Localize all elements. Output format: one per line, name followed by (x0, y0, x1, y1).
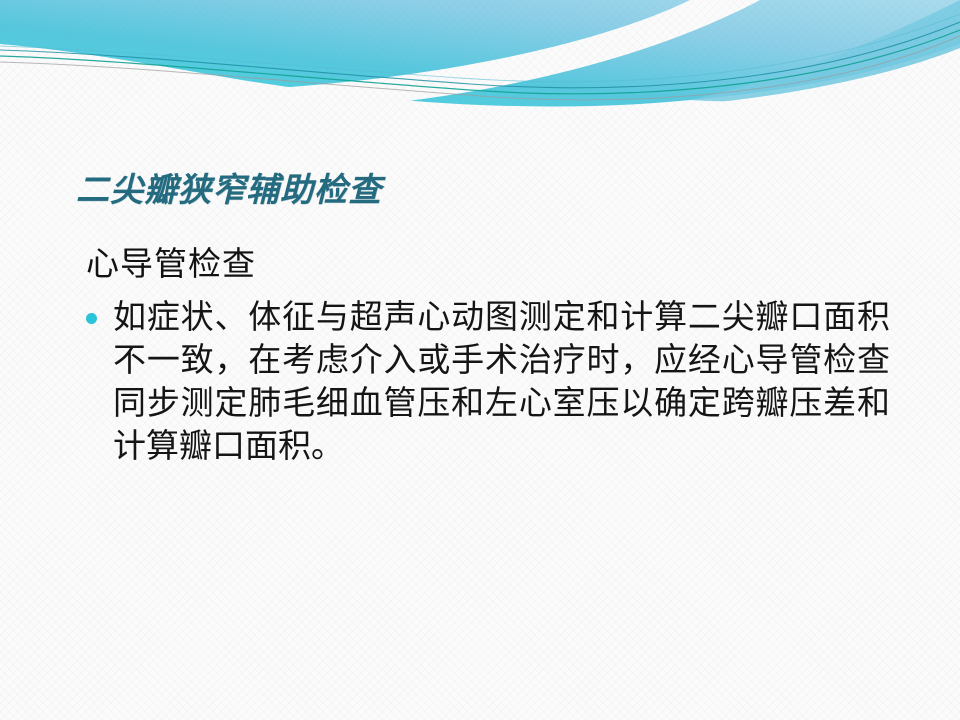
list-item: 如症状、体征与超声心动图测定和计算二尖瓣口面积不一致，在考虑介入或手术治疗时，应… (78, 297, 890, 469)
slide-body: 心导管检查 如症状、体征与超声心动图测定和计算二尖瓣口面积不一致，在考虑介入或手… (78, 243, 890, 469)
slide-title: 二尖瓣狭窄辅助检查 (76, 163, 382, 211)
presentation-slide: 二尖瓣狭窄辅助检查 心导管检查 如症状、体征与超声心动图测定和计算二尖瓣口面积不… (0, 0, 960, 720)
section-subheading: 心导管检查 (86, 243, 890, 287)
bullet-list: 如症状、体征与超声心动图测定和计算二尖瓣口面积不一致，在考虑介入或手术治疗时，应… (78, 297, 890, 469)
slide-content: 二尖瓣狭窄辅助检查 心导管检查 如症状、体征与超声心动图测定和计算二尖瓣口面积不… (0, 0, 960, 720)
list-item-text: 如症状、体征与超声心动图测定和计算二尖瓣口面积不一致，在考虑介入或手术治疗时，应… (113, 297, 890, 469)
bullet-dot-icon (86, 313, 97, 324)
